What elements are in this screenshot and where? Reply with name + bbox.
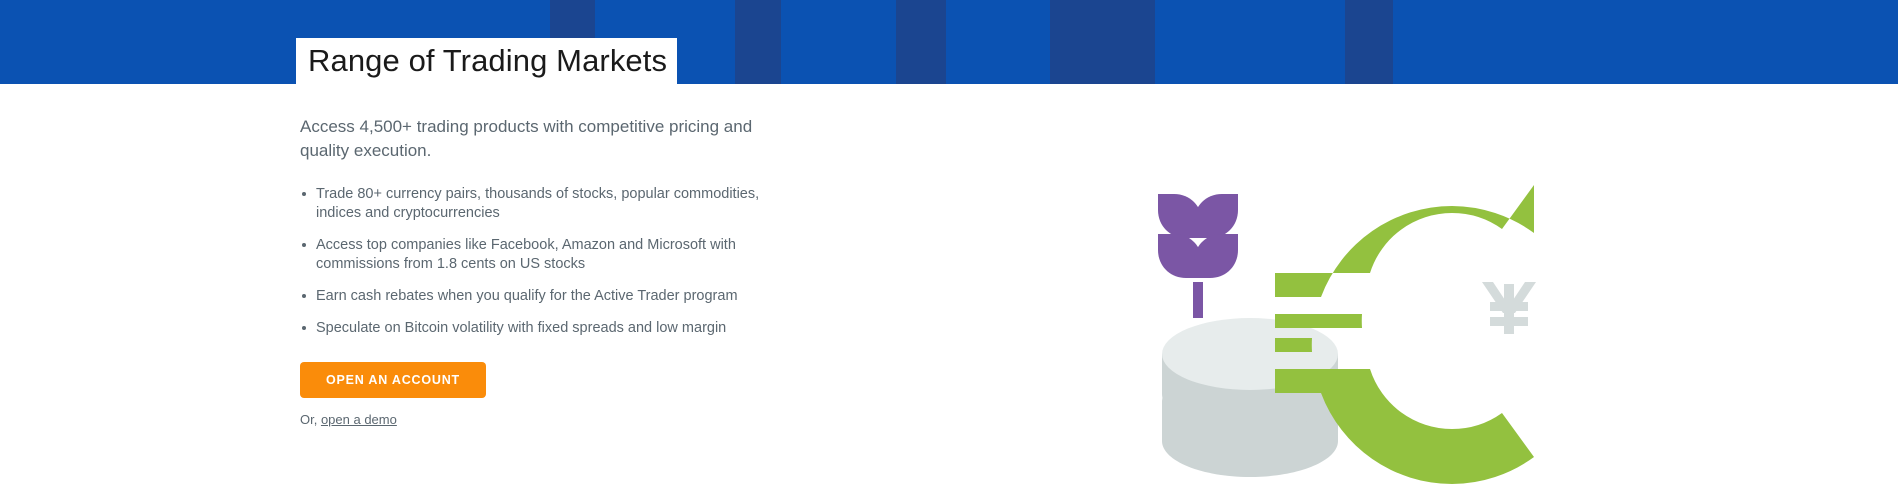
list-item: Trade 80+ currency pairs, thousands of s… — [300, 185, 761, 223]
main-content: Access 4,500+ trading products with comp… — [300, 115, 800, 427]
banner-stripe — [896, 0, 946, 84]
yen-symbol-icon — [1482, 282, 1536, 334]
intro-paragraph: Access 4,500+ trading products with comp… — [300, 115, 770, 163]
banner-stripe — [735, 0, 781, 84]
demo-line: Or, open a demo — [300, 412, 800, 427]
banner-stripe — [1050, 0, 1155, 84]
cta-group: OPEN AN ACCOUNT Or, open a demo — [300, 362, 800, 427]
euro-coins-plant-illustration — [1130, 106, 1560, 496]
list-item: Earn cash rebates when you qualify for t… — [300, 287, 761, 306]
open-a-demo-link[interactable]: open a demo — [321, 412, 397, 427]
list-item: Access top companies like Facebook, Amaz… — [300, 236, 761, 274]
demo-prefix-text: Or, — [300, 412, 321, 427]
hero-banner — [0, 0, 1898, 84]
page-title: Range of Trading Markets — [308, 42, 667, 80]
page-title-plate: Range of Trading Markets — [296, 38, 677, 86]
page-root: Range of Trading Markets Access 4,500+ t… — [0, 0, 1898, 499]
plant-icon — [1158, 194, 1238, 318]
list-item: Speculate on Bitcoin volatility with fix… — [300, 319, 761, 338]
open-an-account-button[interactable]: OPEN AN ACCOUNT — [300, 362, 486, 398]
banner-stripe — [1345, 0, 1393, 84]
feature-list: Trade 80+ currency pairs, thousands of s… — [300, 185, 800, 338]
